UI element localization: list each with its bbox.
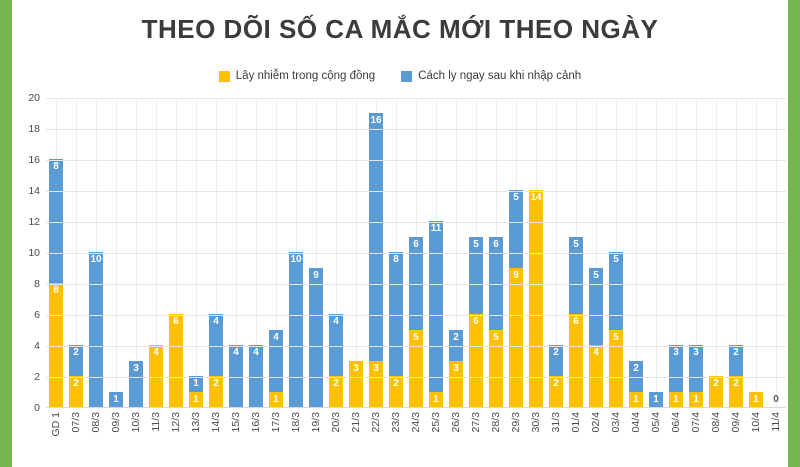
bar-value-label: 6: [493, 239, 499, 250]
gridline: [46, 346, 786, 347]
x-axis-tick: GD 1: [46, 412, 66, 462]
bar-segment-quarantine[interactable]: 10: [289, 252, 303, 407]
bar-value-label: 2: [713, 378, 719, 389]
bar-value-label: 1: [653, 394, 659, 405]
x-axis-tick: 01/4: [566, 412, 586, 462]
x-axis-tick-label: 16/3: [250, 412, 262, 432]
bar-segment-quarantine[interactable]: 5: [589, 268, 603, 346]
bar-value-label: 1: [693, 394, 699, 405]
bar-value-label: 10: [290, 254, 301, 265]
bar-segment-quarantine[interactable]: 4: [249, 345, 263, 407]
bar-value-label: 3: [453, 363, 459, 374]
gridline: [46, 222, 786, 223]
bar-value-label: 2: [333, 378, 339, 389]
bar-segment-quarantine[interactable]: 2: [629, 361, 643, 392]
bar-segment-community[interactable]: 1: [749, 392, 763, 408]
bar-segment-quarantine[interactable]: 1: [189, 376, 203, 392]
chart-legend: Lây nhiễm trong cộng đồng Cách ly ngay s…: [0, 70, 800, 82]
bar-value-label: 14: [530, 192, 541, 203]
bar-value-label: 4: [153, 347, 159, 358]
bar-segment-community[interactable]: 1: [189, 392, 203, 408]
bar-segment-community[interactable]: 8: [49, 283, 63, 407]
legend-item-community: Lây nhiễm trong cộng đồng: [219, 70, 375, 82]
x-axis-tick: 09/3: [106, 412, 126, 462]
bar-value-label: 2: [213, 378, 219, 389]
x-axis-tick-label: 04/4: [630, 412, 642, 432]
gridline: [46, 315, 786, 316]
x-axis-tick: 17/3: [266, 412, 286, 462]
bar-segment-community[interactable]: 2: [549, 376, 563, 407]
x-axis-tick-label: 24/3: [410, 412, 422, 432]
x-axis-tick: 21/3: [346, 412, 366, 462]
bar-segment-community[interactable]: 3: [349, 361, 363, 408]
bar-value-label: 5: [573, 239, 579, 250]
bar-segment-community[interactable]: 4: [149, 345, 163, 407]
gridline: [46, 129, 786, 130]
bar-segment-community[interactable]: 6: [569, 314, 583, 407]
x-axis-tick-label: 07/3: [70, 412, 82, 432]
y-axis: 02468101214161820: [16, 98, 42, 408]
x-axis-tick-label: 11/3: [150, 412, 162, 432]
x-axis-tick: 06/4: [666, 412, 686, 462]
bar-value-label: 4: [253, 347, 259, 358]
x-axis-tick: 20/3: [326, 412, 346, 462]
x-axis-tick-label: 10/4: [750, 412, 762, 432]
x-axis-tick-label: 08/3: [90, 412, 102, 432]
bar-value-label: 1: [193, 394, 199, 405]
bar-segment-quarantine[interactable]: 3: [669, 345, 683, 392]
bar-segment-community[interactable]: 1: [629, 392, 643, 408]
x-axis-tick: 05/4: [646, 412, 666, 462]
x-axis-tick-label: 27/3: [470, 412, 482, 432]
bar-segment-community[interactable]: 1: [269, 392, 283, 408]
bar-value-label: 2: [633, 363, 639, 374]
x-axis-tick: 04/4: [626, 412, 646, 462]
x-axis-tick: 12/3: [166, 412, 186, 462]
bar-segment-community[interactable]: 1: [689, 392, 703, 408]
x-axis-tick-label: 01/4: [570, 412, 582, 432]
bar-value-label: 4: [273, 332, 279, 343]
x-axis-tick: 16/3: [246, 412, 266, 462]
bar-segment-community[interactable]: 2: [69, 376, 83, 407]
x-axis-tick-label: 26/3: [450, 412, 462, 432]
x-axis-tick-label: 07/4: [690, 412, 702, 432]
gridline: [46, 98, 786, 99]
bar-segment-community[interactable]: 6: [169, 314, 183, 407]
grid-area: 8822101346114244411094231638265111235665…: [46, 98, 786, 408]
x-axis-tick: 10/3: [126, 412, 146, 462]
bar-value-label: 1: [113, 394, 119, 405]
legend-item-quarantine: Cách ly ngay sau khi nhập cảnh: [401, 70, 581, 82]
x-axis-tick: 27/3: [466, 412, 486, 462]
bar-segment-quarantine[interactable]: 2: [729, 345, 743, 376]
bar-segment-quarantine[interactable]: 3: [129, 361, 143, 408]
bar-segment-community[interactable]: 5: [609, 330, 623, 408]
bar-value-label: 16: [370, 115, 381, 126]
bar-segment-quarantine[interactable]: 2: [69, 345, 83, 376]
x-axis-tick-label: 31/3: [550, 412, 562, 432]
bar-value-label: 2: [733, 378, 739, 389]
bar-segment-quarantine[interactable]: 8: [389, 252, 403, 376]
bar-value-label: 1: [273, 394, 279, 405]
bar-segment-quarantine[interactable]: 16: [369, 113, 383, 361]
bar-value-label: 10: [90, 254, 101, 265]
bar-value-label: 9: [313, 270, 319, 281]
bar-value-label: 1: [193, 378, 199, 389]
bar-segment-community[interactable]: 3: [449, 361, 463, 408]
bar-segment-quarantine[interactable]: 5: [469, 237, 483, 315]
x-axis-tick-label: 12/3: [170, 412, 182, 432]
x-axis-tick: 09/4: [726, 412, 746, 462]
x-axis-tick-label: 03/4: [610, 412, 622, 432]
x-axis-tick: 13/3: [186, 412, 206, 462]
y-axis-tick: 8: [34, 278, 40, 290]
y-axis-tick: 12: [28, 216, 40, 228]
bar-value-label: 6: [473, 316, 479, 327]
bar-segment-community[interactable]: 1: [429, 392, 443, 408]
bar-value-label: 8: [53, 161, 59, 172]
x-axis-tick: 26/3: [446, 412, 466, 462]
bar-value-label: 5: [473, 239, 479, 250]
bar-value-label: 2: [553, 347, 559, 358]
x-axis-tick-label: 28/3: [490, 412, 502, 432]
y-axis-tick: 10: [28, 247, 40, 259]
bar-value-label: 5: [513, 192, 519, 203]
bar-value-label: 5: [613, 254, 619, 265]
bar-segment-quarantine[interactable]: 4: [329, 314, 343, 376]
x-axis-tick-label: 13/3: [190, 412, 202, 432]
bar-segment-community[interactable]: 2: [209, 376, 223, 407]
bar-value-label: 6: [173, 316, 179, 327]
bar-segment-community[interactable]: 1: [669, 392, 683, 408]
bar-segment-community[interactable]: 2: [729, 376, 743, 407]
bar-value-label: 5: [593, 270, 599, 281]
bar-value-label: 6: [573, 316, 579, 327]
legend-label-community: Lây nhiễm trong cộng đồng: [236, 70, 375, 82]
x-axis-tick-label: 30/3: [530, 412, 542, 432]
x-axis: GD 107/308/309/310/311/312/313/314/315/3…: [46, 412, 786, 462]
bar-value-label: 8: [393, 254, 399, 265]
bar-segment-quarantine[interactable]: 4: [209, 314, 223, 376]
x-axis-tick-label: 11/4: [770, 412, 782, 432]
bar-value-label: 2: [73, 347, 79, 358]
x-axis-tick-label: 21/3: [350, 412, 362, 432]
x-axis-tick: 23/3: [386, 412, 406, 462]
x-axis-tick-label: GD 1: [50, 412, 62, 437]
x-axis-tick: 25/3: [426, 412, 446, 462]
x-axis-tick-label: 20/3: [330, 412, 342, 432]
bar-value-label: 5: [493, 332, 499, 343]
bar-segment-community[interactable]: 4: [589, 345, 603, 407]
bar-segment-community[interactable]: 9: [509, 268, 523, 408]
x-axis-tick-label: 23/3: [390, 412, 402, 432]
legend-swatch-quarantine: [401, 71, 412, 82]
x-axis-tick: 29/3: [506, 412, 526, 462]
x-axis-tick-label: 18/3: [290, 412, 302, 432]
bar-segment-quarantine[interactable]: 9: [309, 268, 323, 408]
x-axis-tick-label: 29/3: [510, 412, 522, 432]
plot-area: 02468101214161820 8822101346114244411094…: [16, 98, 786, 418]
gridline: [46, 284, 786, 285]
bar-segment-community[interactable]: 5: [409, 330, 423, 408]
bar-segment-quarantine[interactable]: 3: [689, 345, 703, 392]
x-axis-tick: 11/3: [146, 412, 166, 462]
bar-segment-quarantine[interactable]: 10: [89, 252, 103, 407]
bar-value-label: 8: [53, 285, 59, 296]
y-axis-tick: 16: [28, 154, 40, 166]
chart-title: THEO DÕI SỐ CA MẮC MỚI THEO NGÀY: [0, 14, 800, 45]
bar-segment-quarantine[interactable]: 4: [269, 330, 283, 392]
x-axis-tick: 24/3: [406, 412, 426, 462]
y-axis-tick: 0: [34, 402, 40, 414]
bar-value-label: 1: [433, 394, 439, 405]
bar-segment-community[interactable]: 2: [329, 376, 343, 407]
bar-value-label: 6: [413, 239, 419, 250]
y-axis-tick: 20: [28, 92, 40, 104]
bar-value-label: 0: [773, 394, 779, 405]
bar-segment-community[interactable]: 5: [489, 330, 503, 408]
x-axis-tick: 31/3: [546, 412, 566, 462]
bar-value-label: 3: [673, 347, 679, 358]
x-axis-tick: 08/3: [86, 412, 106, 462]
x-axis-tick: 19/3: [306, 412, 326, 462]
y-axis-tick: 2: [34, 371, 40, 383]
bar-segment-quarantine[interactable]: 1: [649, 392, 663, 408]
x-axis-tick: 28/3: [486, 412, 506, 462]
bar-value-label: 3: [693, 347, 699, 358]
bar-value-label: 2: [453, 332, 459, 343]
bar-value-label: 1: [633, 394, 639, 405]
x-axis-tick-label: 22/3: [370, 412, 382, 432]
x-axis-tick-label: 02/4: [590, 412, 602, 432]
bar-value-label: 4: [333, 316, 339, 327]
x-axis-tick-label: 15/3: [230, 412, 242, 432]
bar-segment-community[interactable]: 2: [709, 376, 723, 407]
bar-value-label: 3: [133, 363, 139, 374]
bar-value-label: 1: [673, 394, 679, 405]
gridline: [46, 191, 786, 192]
bar-value-label: 3: [353, 363, 359, 374]
y-axis-tick: 18: [28, 123, 40, 135]
gridline: [46, 377, 786, 378]
bar-value-label: 4: [593, 347, 599, 358]
x-axis-tick: 14/3: [206, 412, 226, 462]
y-axis-tick: 4: [34, 340, 40, 352]
x-axis-tick: 22/3: [366, 412, 386, 462]
x-axis-tick: 10/4: [746, 412, 766, 462]
x-axis-tick: 07/4: [686, 412, 706, 462]
gridline: [46, 253, 786, 254]
x-axis-tick-label: 10/3: [130, 412, 142, 432]
bar-value-label: 4: [233, 347, 239, 358]
bar-value-label: 4: [213, 316, 219, 327]
x-axis-tick: 15/3: [226, 412, 246, 462]
bar-segment-quarantine[interactable]: 11: [429, 221, 443, 392]
bar-value-label: 3: [373, 363, 379, 374]
bar-value-label: 2: [553, 378, 559, 389]
bar-segment-quarantine[interactable]: 1: [109, 392, 123, 408]
x-axis-tick-label: 25/3: [430, 412, 442, 432]
bar-value-label: 2: [733, 347, 739, 358]
gridline: [46, 160, 786, 161]
x-axis-tick-label: 08/4: [710, 412, 722, 432]
bar-segment-quarantine[interactable]: 5: [569, 237, 583, 315]
x-axis-tick-label: 05/4: [650, 412, 662, 432]
bar-segment-quarantine[interactable]: 8: [49, 159, 63, 283]
legend-swatch-community: [219, 71, 230, 82]
bar-segment-community[interactable]: 3: [369, 361, 383, 408]
legend-label-quarantine: Cách ly ngay sau khi nhập cảnh: [418, 70, 581, 82]
x-axis-tick-label: 19/3: [310, 412, 322, 432]
y-axis-tick: 6: [34, 309, 40, 321]
x-axis-tick: 30/3: [526, 412, 546, 462]
x-axis-tick: 07/3: [66, 412, 86, 462]
bar-value-label: 2: [73, 378, 79, 389]
bar-segment-quarantine[interactable]: 5: [509, 190, 523, 268]
bar-value-label: 5: [413, 332, 419, 343]
x-axis-tick-label: 17/3: [270, 412, 282, 432]
bar-value-label: 1: [753, 394, 759, 405]
x-axis-tick-label: 09/4: [730, 412, 742, 432]
bar-value-label: 5: [613, 332, 619, 343]
bar-value-label: 9: [513, 270, 519, 281]
y-axis-tick: 14: [28, 185, 40, 197]
bar-segment-community[interactable]: 2: [389, 376, 403, 407]
bar-segment-quarantine[interactable]: 2: [549, 345, 563, 376]
x-axis-tick: 08/4: [706, 412, 726, 462]
x-axis-tick-label: 14/3: [210, 412, 222, 432]
x-axis-tick: 02/4: [586, 412, 606, 462]
x-axis-tick-label: 09/3: [110, 412, 122, 432]
bar-segment-quarantine[interactable]: 4: [229, 345, 243, 407]
bar-segment-quarantine[interactable]: 2: [449, 330, 463, 361]
x-axis-tick-label: 06/4: [670, 412, 682, 432]
x-axis-tick: 11/4: [766, 412, 786, 462]
bar-segment-community[interactable]: 6: [469, 314, 483, 407]
bar-value-label: 11: [431, 223, 442, 234]
chart-container: THEO DÕI SỐ CA MẮC MỚI THEO NGÀY Lây nhi…: [0, 0, 800, 467]
x-axis-tick: 18/3: [286, 412, 306, 462]
bar-value-label: 2: [393, 378, 399, 389]
x-axis-tick: 03/4: [606, 412, 626, 462]
bar-segment-quarantine[interactable]: 5: [609, 252, 623, 330]
